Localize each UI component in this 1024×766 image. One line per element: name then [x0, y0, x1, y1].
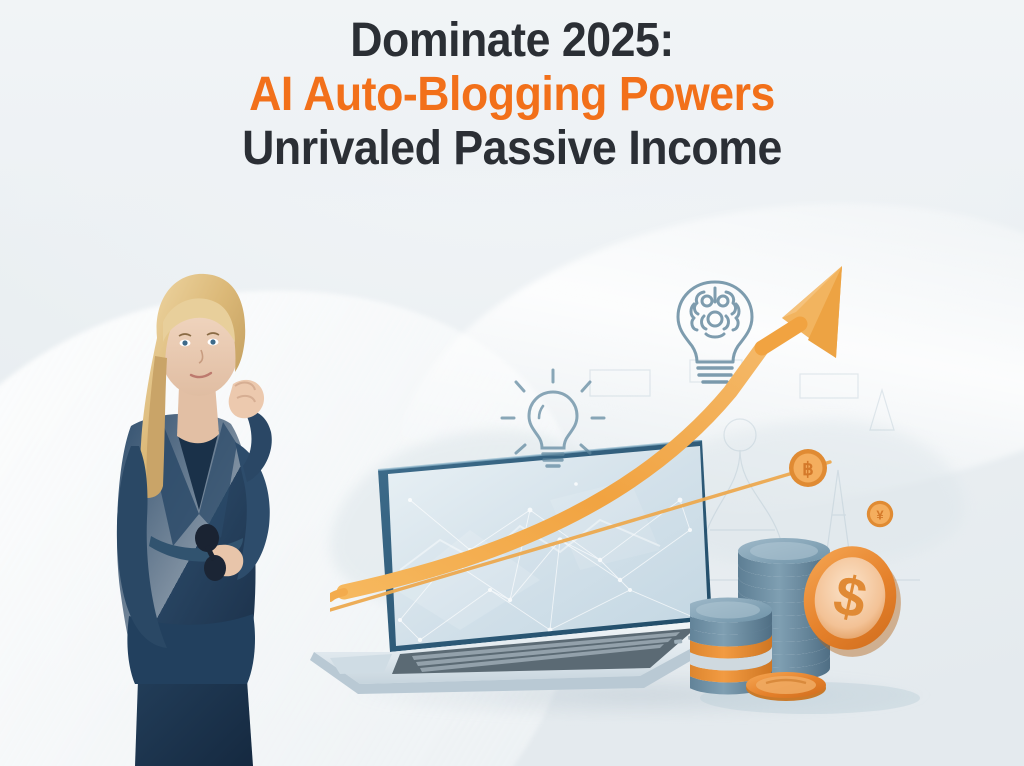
page-title: Dominate 2025: AI Auto-Blogging Powers U…: [0, 14, 1024, 175]
floating-coin-yen: ¥: [866, 500, 894, 528]
poster-canvas: Dominate 2025: AI Auto-Blogging Powers U…: [0, 0, 1024, 766]
headline-line-1: Dominate 2025:: [36, 14, 988, 68]
businesswoman-figure: [95, 246, 345, 766]
svg-text:¥: ¥: [876, 508, 884, 523]
floating-coin-baht: ฿: [788, 448, 828, 488]
svg-text:฿: ฿: [802, 459, 813, 479]
headline-line-2: AI Auto-Blogging Powers: [36, 68, 988, 122]
headline-line-3: Unrivaled Passive Income: [36, 122, 988, 176]
